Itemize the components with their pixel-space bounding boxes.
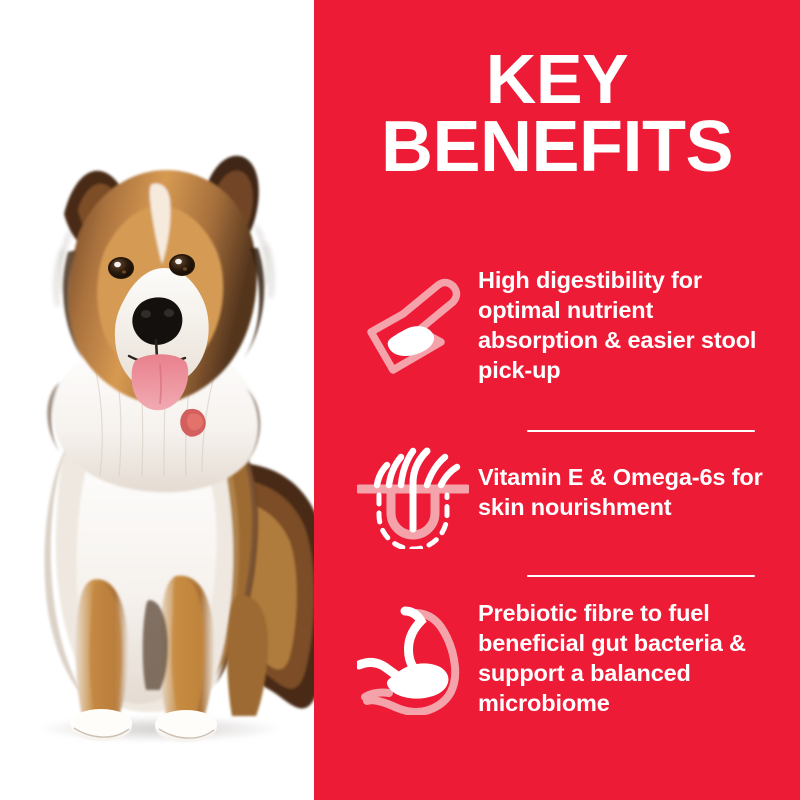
pooper-scooper-icon: [354, 267, 472, 385]
benefit-text: Vitamin E & Omega-6s for skin nourishmen…: [478, 463, 770, 523]
benefits-panel: KEY BENEFITS High diges: [314, 0, 800, 800]
benefit-text: High digestibility for optimal nutrient …: [478, 266, 770, 385]
benefit-item-digestibility: High digestibility for optimal nutrient …: [314, 232, 800, 420]
benefit-text: Prebiotic fibre to fuel beneficial gut b…: [478, 599, 770, 718]
title-line-2: BENEFITS: [314, 113, 800, 182]
hair-follicle-icon: [354, 434, 472, 552]
benefits-list: High digestibility for optimal nutrient …: [314, 232, 800, 753]
key-benefits-card: KEY BENEFITS High diges: [0, 0, 800, 800]
benefit-item-skin: Vitamin E & Omega-6s for skin nourishmen…: [314, 420, 800, 565]
dog-photo: [0, 0, 314, 800]
product-photo-panel: [0, 0, 314, 800]
benefit-item-prebiotic: Prebiotic fibre to fuel beneficial gut b…: [314, 565, 800, 753]
page-title: KEY BENEFITS: [314, 46, 800, 182]
stomach-icon: [354, 600, 472, 718]
